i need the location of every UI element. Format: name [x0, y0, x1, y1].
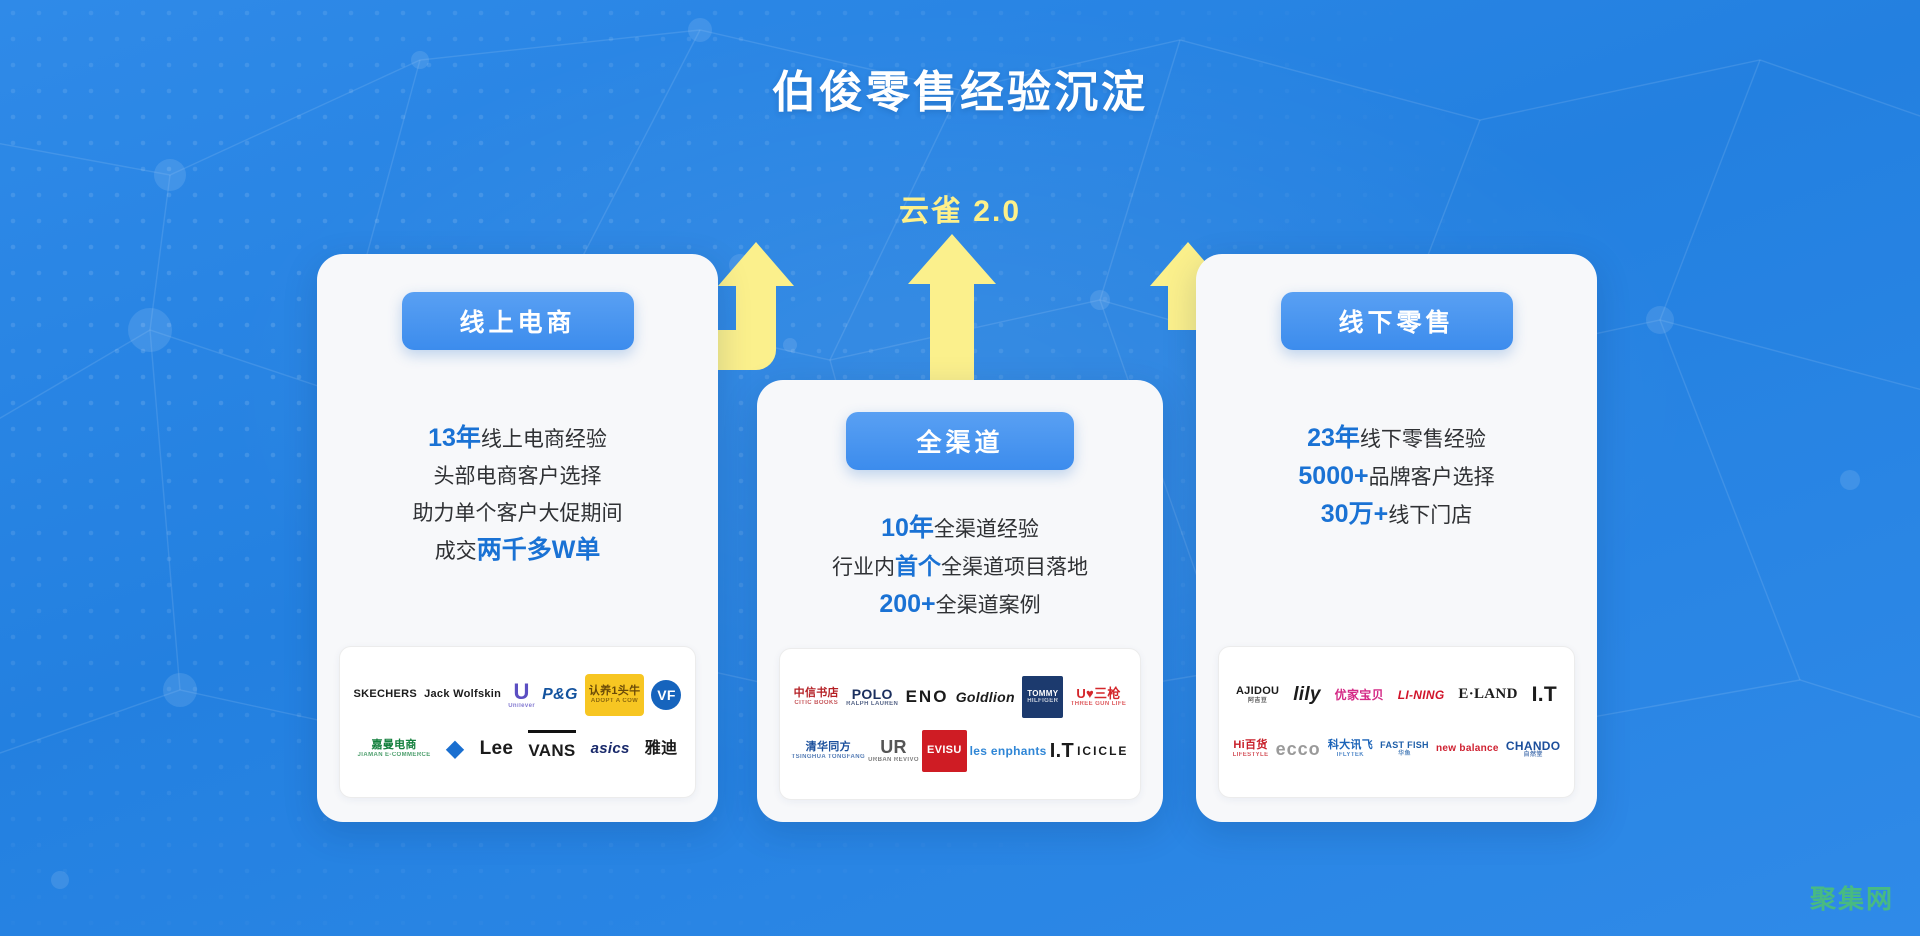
three-gun-logo: U♥三枪THREE GUN LIFE [1071, 679, 1127, 715]
pg-logo: P&G [542, 677, 578, 713]
jiaman-ecommerce-logo: 嘉曼电商JIAMAN E-COMMERCE [358, 731, 431, 767]
ajidou-logo: AJIDOU阿吉豆 [1236, 677, 1279, 713]
logo-row: Hi百货LIFESTYLE ecco 科大讯飞IFLYTEK FAST FISH… [1229, 729, 1564, 769]
page-title: 伯俊零售经验沉淀 [0, 56, 1920, 120]
vf-logo: VF [651, 680, 681, 710]
urban-revivo-logo: URURBAN REVIVO [868, 733, 919, 769]
logo-row: AJIDOU阿吉豆 lily 优家宝贝 LI-NING E·LAND I.T [1229, 675, 1564, 715]
eno-logo: ENO [906, 679, 949, 715]
stat-line: 头部电商客户选择 [317, 458, 718, 495]
logo-row: 中信书店CITIC BOOKS POLORALPH LAUREN ENO Gol… [790, 677, 1130, 717]
card-offline-retail: 线下零售 23年线下零售经验 5000+品牌客户选择 30万+线下门店 AJID… [1196, 254, 1597, 822]
unilever-logo: UUnilever [508, 677, 535, 713]
youjia-baobei-logo: 优家宝贝 [1335, 677, 1384, 713]
ecco-logo: ecco [1276, 731, 1321, 767]
lee-logo: Lee [480, 731, 514, 767]
stat-line: 200+全渠道案例 [757, 586, 1163, 624]
evisu-logo: EVISU [922, 730, 967, 772]
tsinghua-tongfang-logo: 清华同方TSINGHUA TONGFANG [792, 733, 865, 769]
logo-row: SKECHERS Jack Wolfskin UUnilever P&G 认养1… [350, 675, 685, 715]
diamond-brand-logo: ◆ [446, 731, 465, 767]
stat-line: 助力单个客户大促期间 [317, 495, 718, 532]
card-omni-channel: 全渠道 10年全渠道经验 行业内首个全渠道项目落地 200+全渠道案例 中信书店… [757, 380, 1163, 822]
brand-logo-panel-omni: 中信书店CITIC BOOKS POLORALPH LAUREN ENO Gol… [779, 648, 1141, 800]
skechers-logo: SKECHERS [354, 677, 418, 713]
logo-row: 嘉曼电商JIAMAN E-COMMERCE ◆ Lee VANS asics 雅… [350, 729, 685, 769]
fast-fish-logo: FAST FISH华鱼 [1380, 731, 1429, 767]
renyangyitouniu-logo: 认养1头牛ADOPT A COW [585, 674, 645, 716]
card-stats-online-ecommerce: 13年线上电商经验 头部电商客户选择 助力单个客户大促期间 成交两千多W单 [317, 420, 718, 570]
icicle-logo: ICICLE [1077, 733, 1128, 769]
stat-line: 成交两千多W单 [317, 532, 718, 570]
card-online-ecommerce: 线上电商 13年线上电商经验 头部电商客户选择 助力单个客户大促期间 成交两千多… [317, 254, 718, 822]
new-balance-logo: new balance [1436, 731, 1499, 767]
goldlion-logo: Goldlion [956, 679, 1015, 715]
yadea-logo: 雅迪 [645, 731, 678, 767]
stat-line: 30万+线下门店 [1196, 496, 1597, 534]
les-enphants-logo: les enphants [970, 733, 1047, 769]
iflytek-logo: 科大讯飞IFLYTEK [1328, 731, 1373, 767]
e-land-logo: E·LAND [1458, 677, 1517, 713]
stat-line: 23年线下零售经验 [1196, 420, 1597, 458]
card-stats-offline-retail: 23年线下零售经验 5000+品牌客户选择 30万+线下门店 [1196, 420, 1597, 534]
brand-logo-panel-online: SKECHERS Jack Wolfskin UUnilever P&G 认养1… [339, 646, 696, 798]
polo-logo: POLORALPH LAUREN [846, 679, 898, 715]
card-stats-omni-channel: 10年全渠道经验 行业内首个全渠道项目落地 200+全渠道案例 [757, 510, 1163, 624]
card-chip-offline-retail[interactable]: 线下零售 [1281, 292, 1513, 350]
product-version-label: 云雀 2.0 [0, 186, 1920, 230]
chando-logo: CHANDO自然堂 [1506, 731, 1560, 767]
it-logo: I.T [1532, 677, 1557, 713]
lily-logo: lily [1293, 677, 1321, 713]
card-chip-omni-channel[interactable]: 全渠道 [846, 412, 1074, 470]
li-ning-logo: LI-NING [1398, 677, 1445, 713]
card-chip-online-ecommerce[interactable]: 线上电商 [402, 292, 634, 350]
watermark: 聚集网 [1810, 879, 1894, 916]
brand-logo-panel-offline: AJIDOU阿吉豆 lily 优家宝贝 LI-NING E·LAND I.T H… [1218, 646, 1575, 798]
it-logo: I.T [1050, 733, 1074, 769]
hi-baihuo-logo: Hi百货LIFESTYLE [1233, 731, 1269, 767]
stat-line: 行业内首个全渠道项目落地 [757, 548, 1163, 586]
tommy-hilfiger-logo: TOMMYHILFIGER [1022, 676, 1063, 718]
stat-line: 13年线上电商经验 [317, 420, 718, 458]
asics-logo: asics [591, 731, 630, 767]
citic-bookstore-logo: 中信书店CITIC BOOKS [794, 679, 839, 715]
stat-line: 10年全渠道经验 [757, 510, 1163, 548]
vans-logo: VANS [528, 730, 575, 769]
slide-canvas: 伯俊零售经验沉淀 云雀 2.0 线上电商 13年线上电商经验 头部电商客户选择 … [0, 0, 1920, 936]
logo-row: 清华同方TSINGHUA TONGFANG URURBAN REVIVO EVI… [790, 731, 1130, 771]
jack-wolfskin-logo: Jack Wolfskin [424, 677, 501, 713]
stat-line: 5000+品牌客户选择 [1196, 458, 1597, 496]
